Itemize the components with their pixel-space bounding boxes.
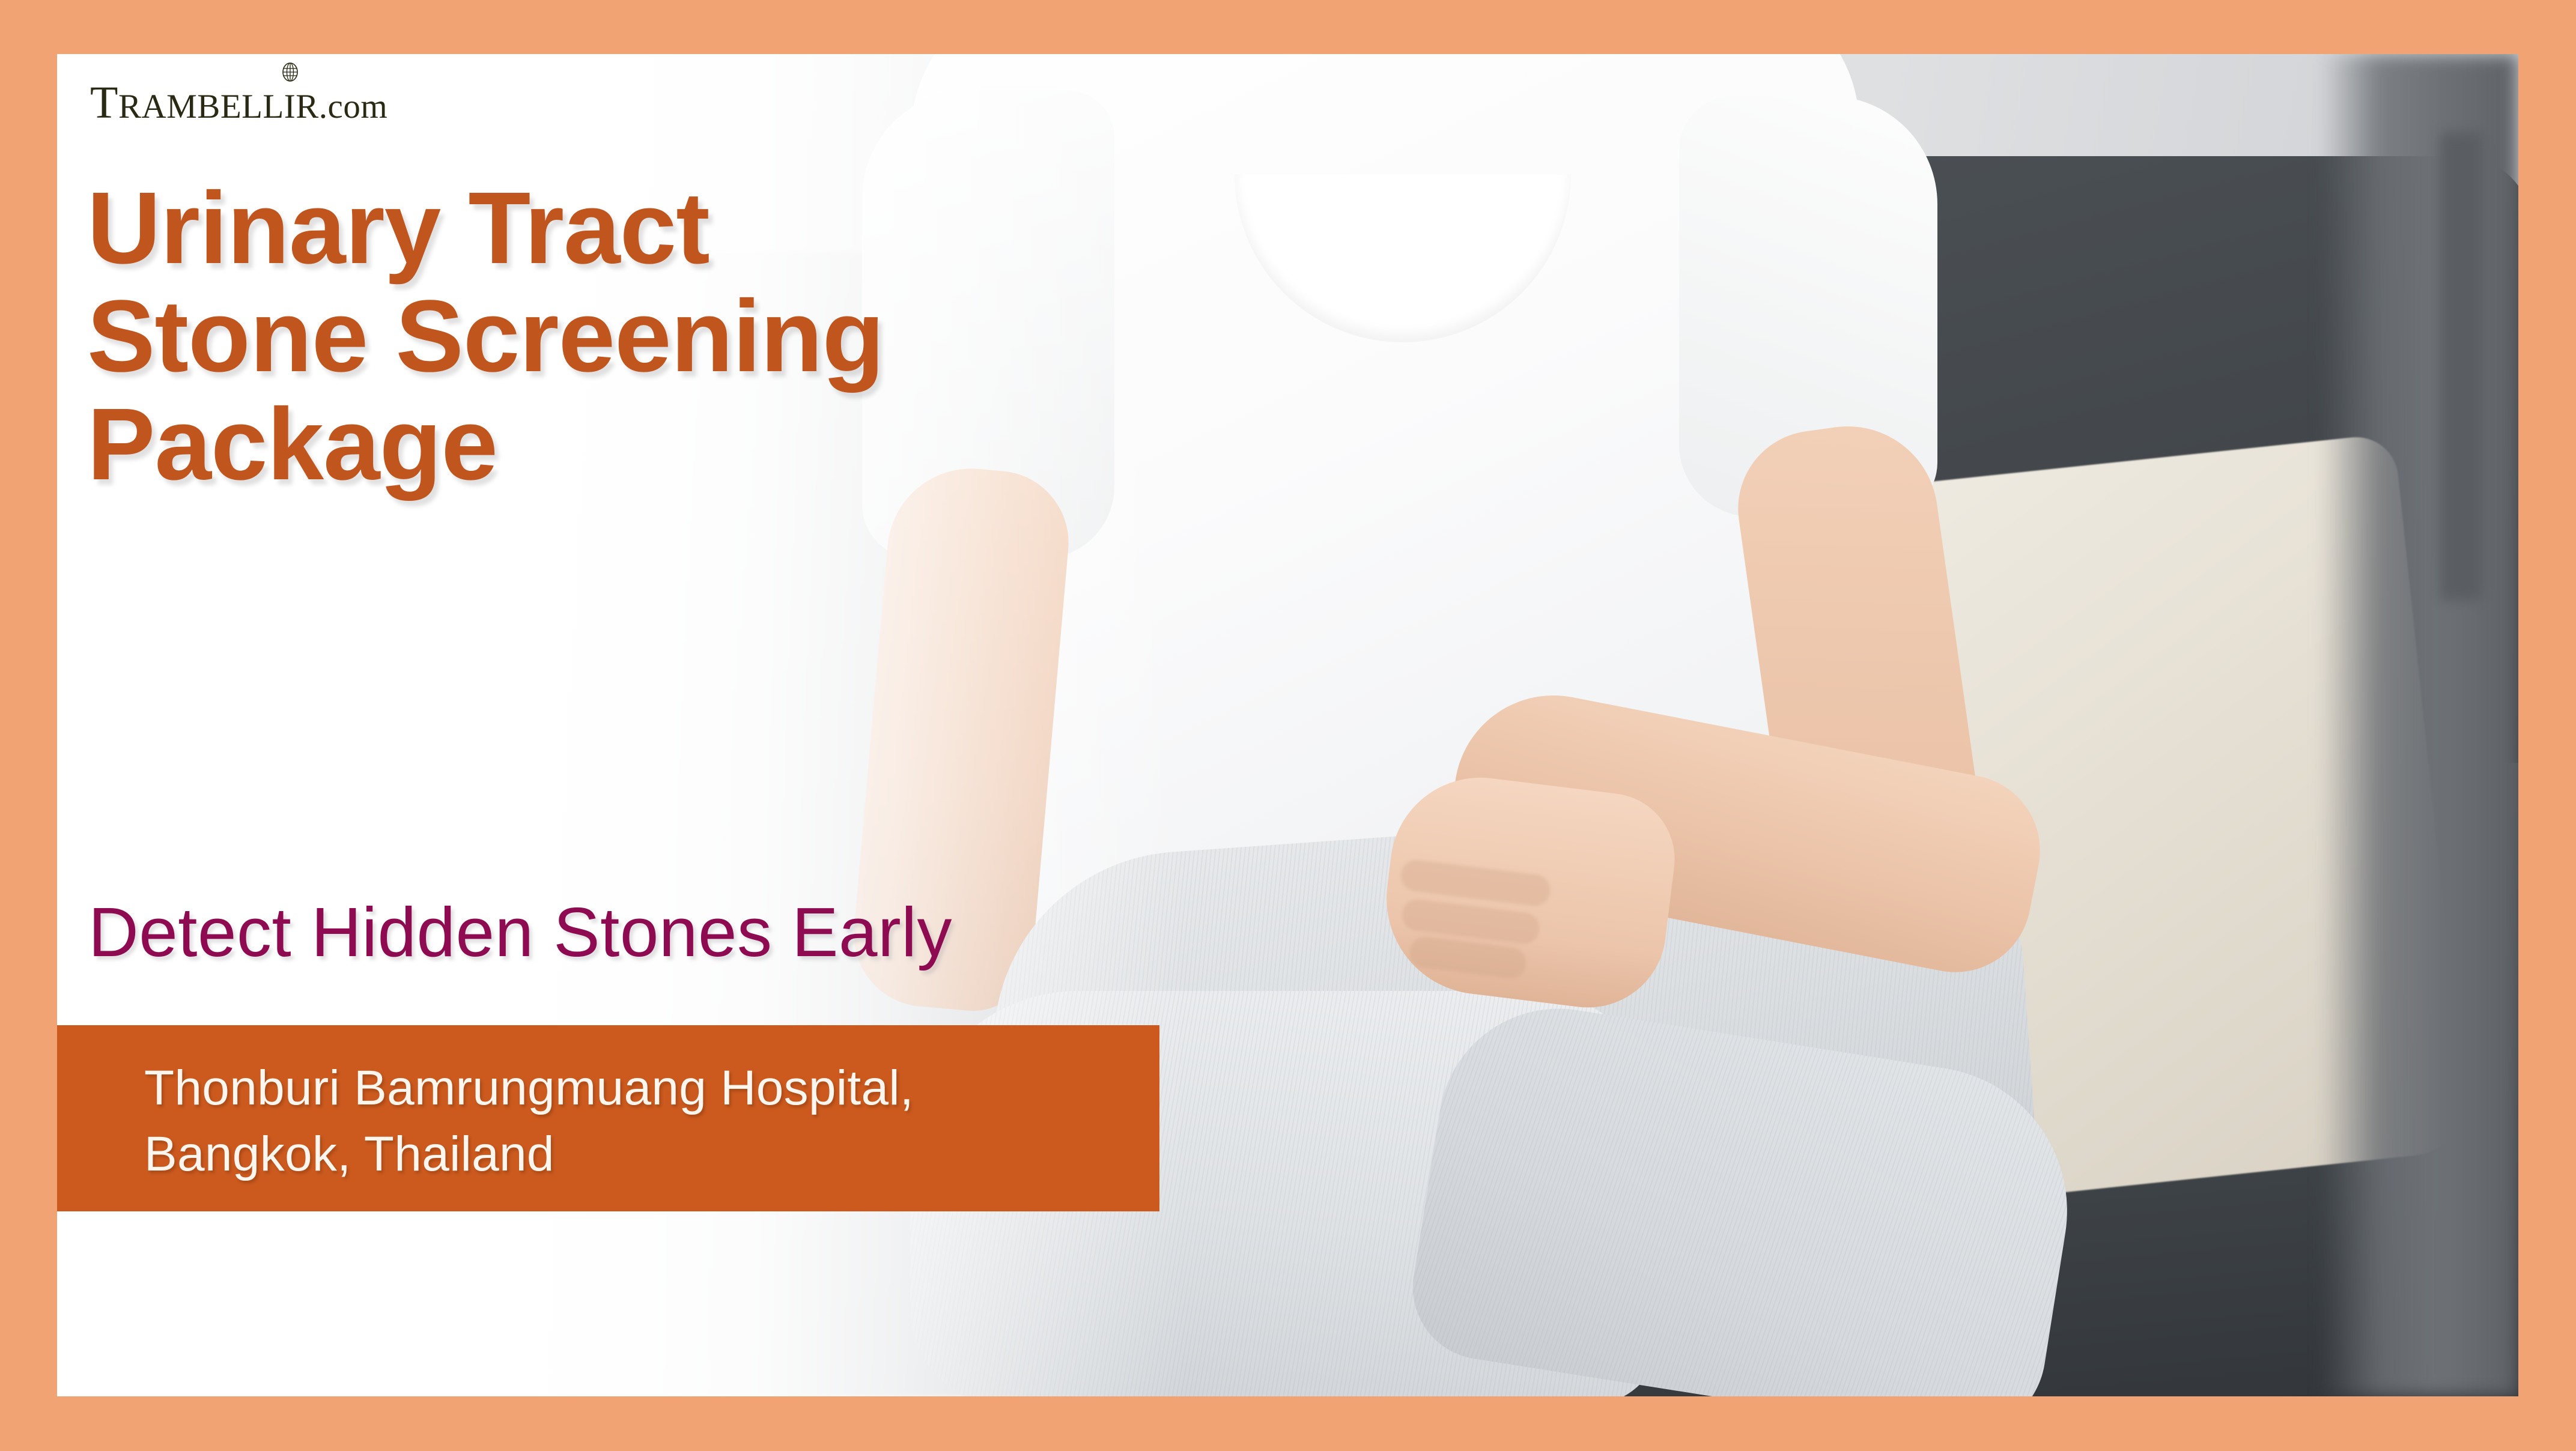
logo-double-l: LL [241,88,284,126]
page-title: Urinary Tract Stone Screening Package [87,174,884,499]
hospital-location-text: Thonburi Bamrungmuang Hospital, Bangkok,… [144,1055,914,1187]
outer-frame: TRAMBELL IR.com Urinary Tract Stone Scre… [0,0,2576,1451]
globe-icon [281,62,299,82]
headline-line-2: Stone Screening [87,282,884,390]
banner-canvas: TRAMBELL IR.com Urinary Tract Stone Scre… [57,54,2518,1396]
logo-tld: .com [319,88,387,126]
doorframe-bar [2440,132,2482,601]
headline-line-3: Package [87,390,884,498]
logo-lead-letter: T [90,77,118,128]
logo-r: R [296,88,319,126]
hospital-ribbon: Thonburi Bamrungmuang Hospital, Bangkok,… [57,1025,1159,1211]
logo-i: I [284,88,296,126]
logo-i-with-globe: I [284,87,296,126]
brand-logo[interactable]: TRAMBELL IR.com [90,77,387,129]
headline-line-1: Urinary Tract [87,174,884,282]
logo-mid: RAMBE [118,88,241,126]
doorframe [2320,54,2518,1396]
subtitle: Detect Hidden Stones Early [88,892,952,972]
